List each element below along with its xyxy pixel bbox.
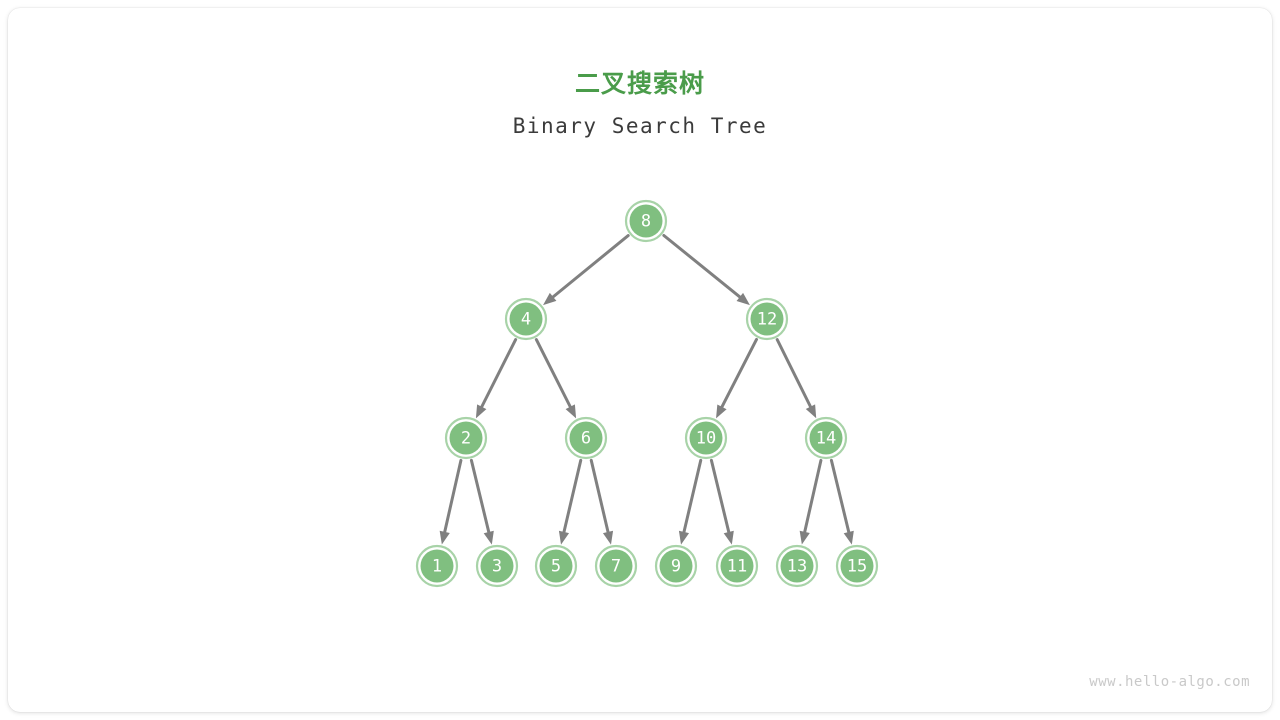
tree-edge xyxy=(440,460,461,544)
node-value-label: 15 xyxy=(847,557,867,577)
tree-node[interactable]: 11 xyxy=(717,546,757,586)
node-value-label: 4 xyxy=(521,310,531,330)
edge-arrowhead xyxy=(844,531,854,545)
tree-edge xyxy=(591,460,613,544)
diagram-card: 二叉搜索树 Binary Search Tree 841226101413579… xyxy=(8,8,1272,712)
tree-edge xyxy=(777,340,816,419)
tree-node[interactable]: 4 xyxy=(506,299,546,339)
tree-node[interactable]: 1 xyxy=(417,546,457,586)
edge-arrowhead xyxy=(440,531,450,545)
edge-arrowhead xyxy=(559,531,569,545)
edge-arrowhead xyxy=(716,404,727,418)
tree-nodes-group: 841226101413579111315 xyxy=(417,201,877,586)
tree-edge xyxy=(543,236,628,306)
tree-node[interactable]: 13 xyxy=(777,546,817,586)
tree-node[interactable]: 15 xyxy=(837,546,877,586)
node-value-label: 10 xyxy=(696,429,716,449)
edge-arrowhead xyxy=(484,531,494,545)
node-value-label: 14 xyxy=(816,429,836,449)
node-value-label: 12 xyxy=(757,310,777,330)
edge-arrowhead xyxy=(566,404,577,418)
tree-edge xyxy=(471,460,493,544)
node-value-label: 3 xyxy=(492,557,502,577)
edge-arrowhead xyxy=(476,404,487,418)
node-value-label: 11 xyxy=(727,557,747,577)
node-value-label: 2 xyxy=(461,429,471,449)
tree-node[interactable]: 5 xyxy=(536,546,576,586)
edge-arrowhead xyxy=(800,531,810,545)
tree-node[interactable]: 3 xyxy=(477,546,517,586)
node-value-label: 8 xyxy=(641,212,651,232)
edge-arrowhead xyxy=(806,404,816,418)
tree-edge xyxy=(476,340,516,419)
node-value-label: 6 xyxy=(581,429,591,449)
tree-edge xyxy=(831,460,853,544)
tree-node[interactable]: 2 xyxy=(446,418,486,458)
tree-edge xyxy=(711,460,733,544)
tree-edge xyxy=(559,460,581,544)
tree-edges-group xyxy=(440,235,854,544)
node-value-label: 1 xyxy=(432,557,442,577)
tree-edge xyxy=(679,460,701,544)
tree-edge xyxy=(664,235,750,305)
tree-node[interactable]: 12 xyxy=(747,299,787,339)
tree-edge xyxy=(536,340,576,419)
edge-arrowhead xyxy=(724,531,734,545)
tree-node[interactable]: 7 xyxy=(596,546,636,586)
tree-edge xyxy=(716,339,756,418)
tree-node[interactable]: 6 xyxy=(566,418,606,458)
tree-node[interactable]: 10 xyxy=(686,418,726,458)
watermark-text: www.hello-algo.com xyxy=(1089,674,1250,690)
node-value-label: 13 xyxy=(787,557,807,577)
binary-search-tree-diagram: 841226101413579111315 xyxy=(8,8,1272,712)
tree-node[interactable]: 9 xyxy=(656,546,696,586)
edge-arrowhead xyxy=(603,531,613,545)
node-value-label: 9 xyxy=(671,557,681,577)
edge-arrowhead xyxy=(679,531,689,545)
tree-node[interactable]: 8 xyxy=(626,201,666,241)
tree-node[interactable]: 14 xyxy=(806,418,846,458)
node-value-label: 5 xyxy=(551,557,561,577)
node-value-label: 7 xyxy=(611,557,621,577)
tree-edge xyxy=(800,460,821,544)
